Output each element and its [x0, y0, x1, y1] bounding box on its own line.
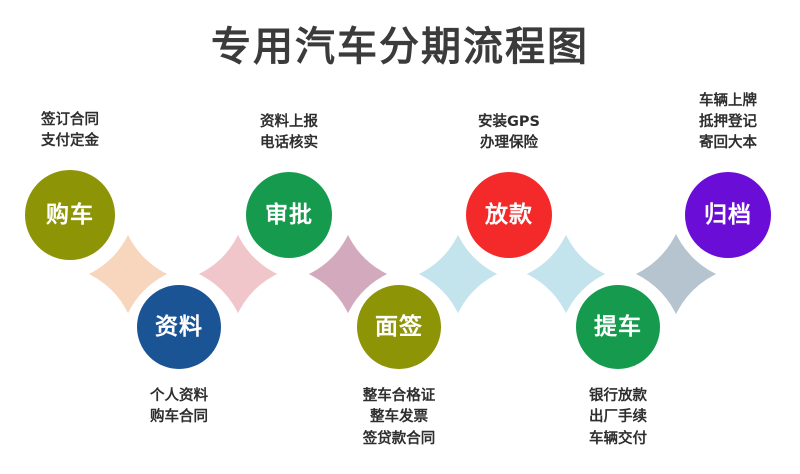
node-guidang-caption-line: 寄回大本 — [628, 133, 800, 154]
node-mianqian[interactable]: 面签 — [354, 282, 444, 372]
node-gouche-label: 购车 — [46, 204, 94, 227]
node-fangkuan-caption: 安装GPS办理保险 — [409, 112, 609, 155]
node-tiche[interactable]: 提车 — [573, 282, 663, 372]
node-gouche-caption: 签订合同支付定金 — [0, 110, 170, 153]
node-ziliao[interactable]: 资料 — [134, 282, 224, 372]
node-gouche-caption-line: 签订合同 — [0, 110, 170, 131]
node-mianqian-label: 面签 — [375, 316, 423, 339]
node-tiche-caption: 银行放款出厂手续车辆交付 — [518, 386, 718, 450]
node-shenpi-caption: 资料上报电话核实 — [189, 112, 389, 155]
node-guidang-label: 归档 — [704, 204, 752, 227]
node-mianqian-caption: 整车合格证整车发票签贷款合同 — [299, 386, 499, 450]
node-tiche-caption-line: 车辆交付 — [518, 429, 718, 450]
node-ziliao-caption: 个人资料购车合同 — [79, 386, 279, 429]
node-mianqian-caption-line: 整车发票 — [299, 407, 499, 428]
node-gouche[interactable]: 购车 — [22, 167, 118, 263]
node-fangkuan-caption-line: 办理保险 — [409, 133, 609, 154]
page-title: 专用汽车分期流程图 — [0, 22, 800, 72]
node-guidang-caption-line: 抵押登记 — [628, 112, 800, 133]
node-shenpi[interactable]: 审批 — [243, 169, 335, 261]
node-mianqian-caption-line: 签贷款合同 — [299, 429, 499, 450]
node-ziliao-label: 资料 — [155, 316, 203, 339]
node-tiche-caption-line: 银行放款 — [518, 386, 718, 407]
node-shenpi-caption-line: 资料上报 — [189, 112, 389, 133]
node-ziliao-caption-line: 个人资料 — [79, 386, 279, 407]
node-fangkuan-caption-line: 安装GPS — [409, 112, 609, 133]
flowchart-canvas: 专用汽车分期流程图 购车资料审批面签放款提车归档 签订合同支付定金个人资料购车合… — [0, 0, 800, 474]
node-guidang-caption-line: 车辆上牌 — [628, 91, 800, 112]
node-fangkuan[interactable]: 放款 — [463, 169, 555, 261]
node-shenpi-caption-line: 电话核实 — [189, 133, 389, 154]
node-tiche-caption-line: 出厂手续 — [518, 407, 718, 428]
node-guidang[interactable]: 归档 — [682, 169, 774, 261]
node-gouche-caption-line: 支付定金 — [0, 131, 170, 152]
node-guidang-caption: 车辆上牌抵押登记寄回大本 — [628, 91, 800, 155]
node-ziliao-caption-line: 购车合同 — [79, 407, 279, 428]
node-shenpi-label: 审批 — [265, 204, 313, 227]
node-fangkuan-label: 放款 — [485, 204, 533, 227]
node-tiche-label: 提车 — [594, 316, 642, 339]
node-mianqian-caption-line: 整车合格证 — [299, 386, 499, 407]
